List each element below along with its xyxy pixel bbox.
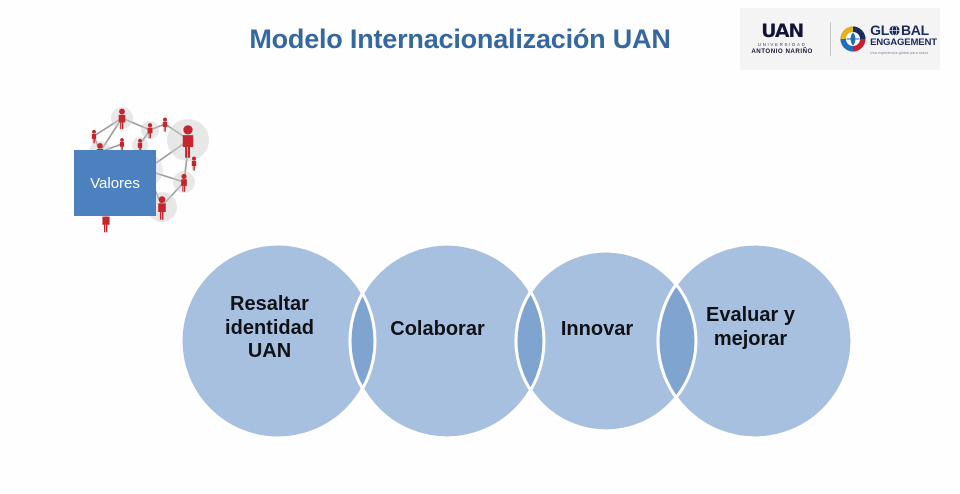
ge-text-bal: BAL xyxy=(901,23,929,37)
uan-university-logo: UAN UNIVERSIDAD ANTONIO NARIÑO xyxy=(743,22,821,56)
logo-panel: UAN UNIVERSIDAD ANTONIO NARIÑO GL BA xyxy=(740,8,940,70)
page-title: Modelo Internacionalización UAN xyxy=(180,24,740,55)
logo-divider xyxy=(830,22,831,56)
valores-box: Valores xyxy=(74,150,156,216)
global-engagement-line-2: ENGAGEMENT xyxy=(870,38,937,49)
venn-circles-svg xyxy=(170,234,860,449)
globe-emblem-icon xyxy=(840,26,866,52)
uan-subtitle-antonio-narino: ANTONIO NARIÑO xyxy=(751,48,813,55)
global-engagement-logo: GL BAL ENGAGEMENT Una experiencia global… xyxy=(840,23,937,54)
global-engagement-tagline: Una experiencia global para todos xyxy=(870,51,937,55)
values-network-graphic: Valores xyxy=(66,100,218,236)
uan-wordmark: UAN xyxy=(761,22,803,41)
global-engagement-line-1: GL BAL xyxy=(870,23,937,37)
process-circles-diagram: Resaltar identidad UAN Colaborar Innovar… xyxy=(170,234,860,449)
global-engagement-text: GL BAL ENGAGEMENT Una experiencia global… xyxy=(870,23,937,54)
ge-text-gl: GL xyxy=(870,23,889,37)
valores-label: Valores xyxy=(90,175,140,192)
globe-letter-o-icon xyxy=(889,25,900,36)
